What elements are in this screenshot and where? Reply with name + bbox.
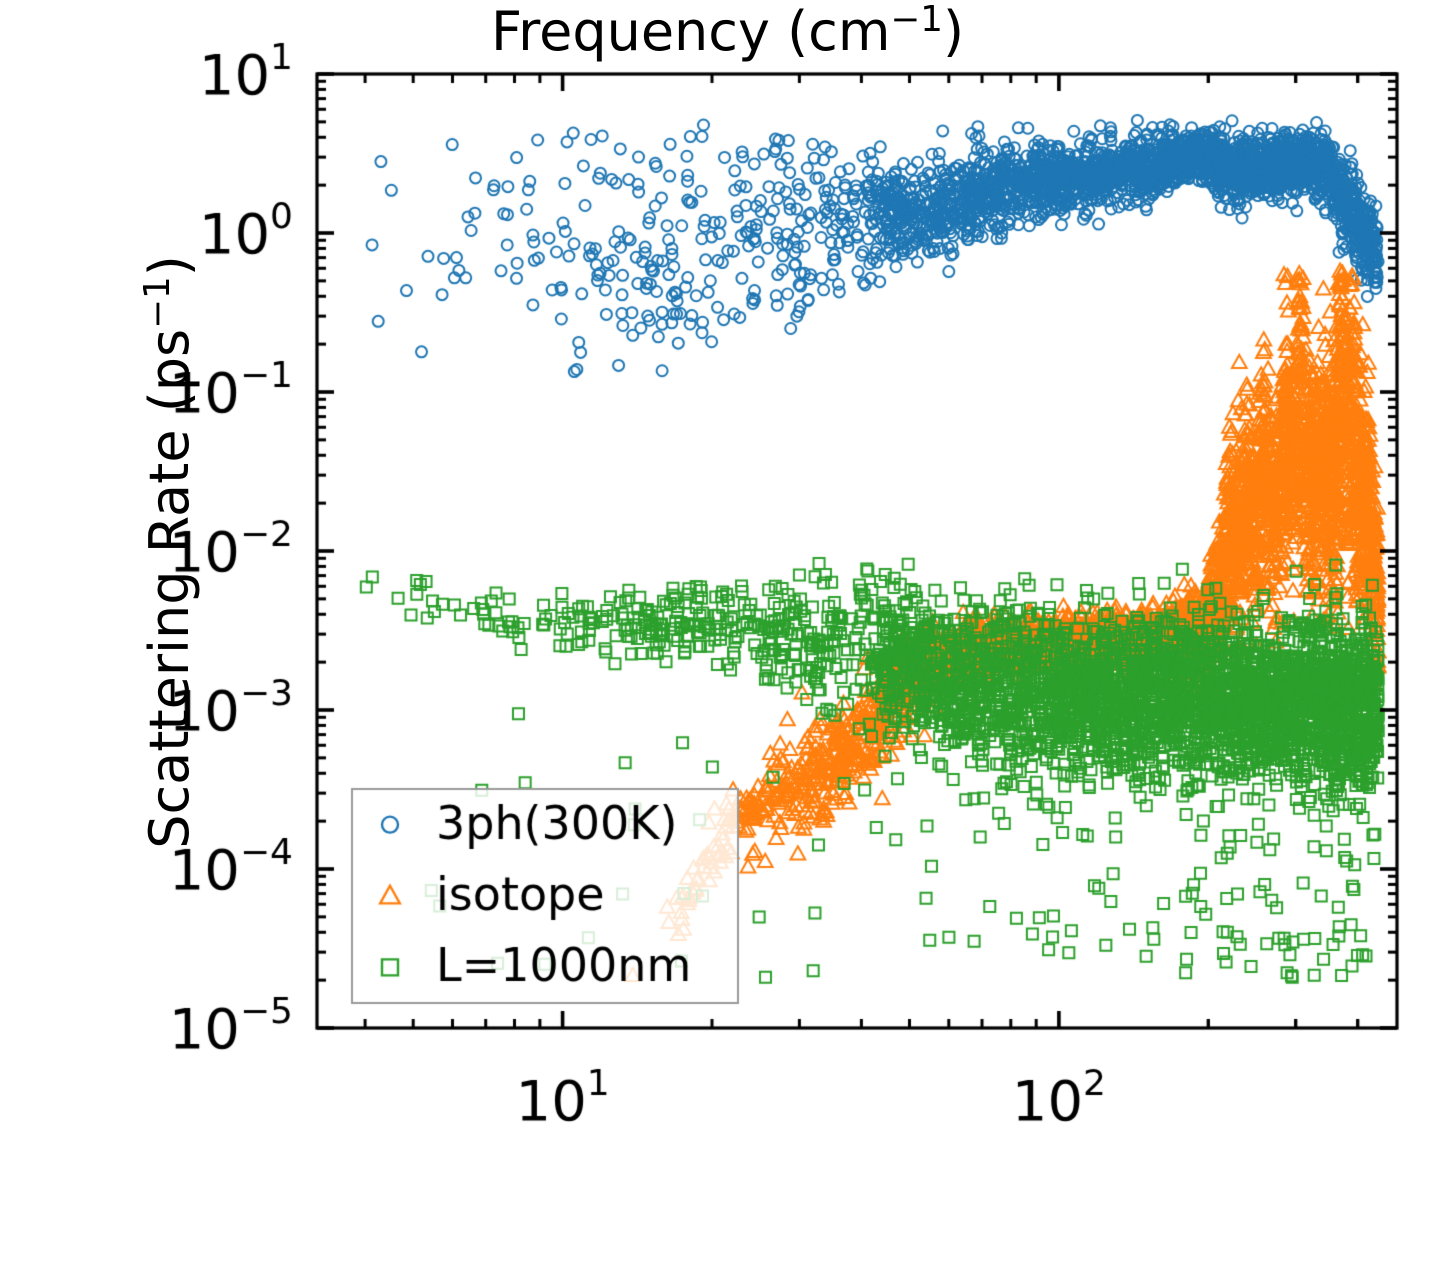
scatter-plot-figure: Frequency (cm−1) Scattering Rate (ps−1) xyxy=(0,0,1455,1281)
plot-canvas xyxy=(0,0,1455,1281)
y-axis-title: Scattering Rate (ps−1) xyxy=(138,72,201,1032)
x-axis-title: Frequency (cm−1) xyxy=(0,0,1455,63)
y-axis-title-wrapper: Scattering Rate (ps−1) xyxy=(138,72,210,1032)
